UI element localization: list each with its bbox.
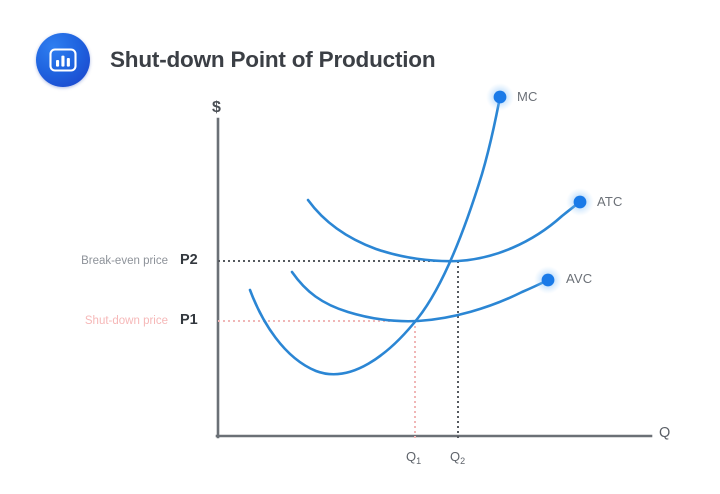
y-axis-label: $ [212,100,221,116]
curve-label-mc: MC [517,90,538,103]
guide-lines [218,261,459,440]
shut-down-price-note: Shut-down price [48,316,168,328]
x-tick-q1-sub: 1 [416,456,421,466]
curve-endpoint-markers [486,83,594,294]
x-tick-q2-sub: 2 [460,456,465,466]
atc-marker [566,188,594,216]
x-tick-q1: Q1 [406,450,421,463]
price-label-p2: P2 [180,253,198,268]
x-tick-q2: Q2 [450,450,465,463]
avc-marker [534,266,562,294]
price-label-p1: P1 [180,313,198,328]
chart-plot [0,0,720,494]
break-even-price-note: Break-even price [48,256,168,268]
x-tick-q1-text: Q [406,449,416,464]
chart-canvas: Shut-down Point of Production [0,0,720,494]
x-tick-q2-text: Q [450,449,460,464]
curve-label-avc: AVC [566,272,592,285]
mc-marker [486,83,514,111]
atc-curve [308,200,580,261]
mc-curve [250,97,500,374]
x-axis-label: Q [659,426,670,441]
curve-label-atc: ATC [597,195,623,208]
